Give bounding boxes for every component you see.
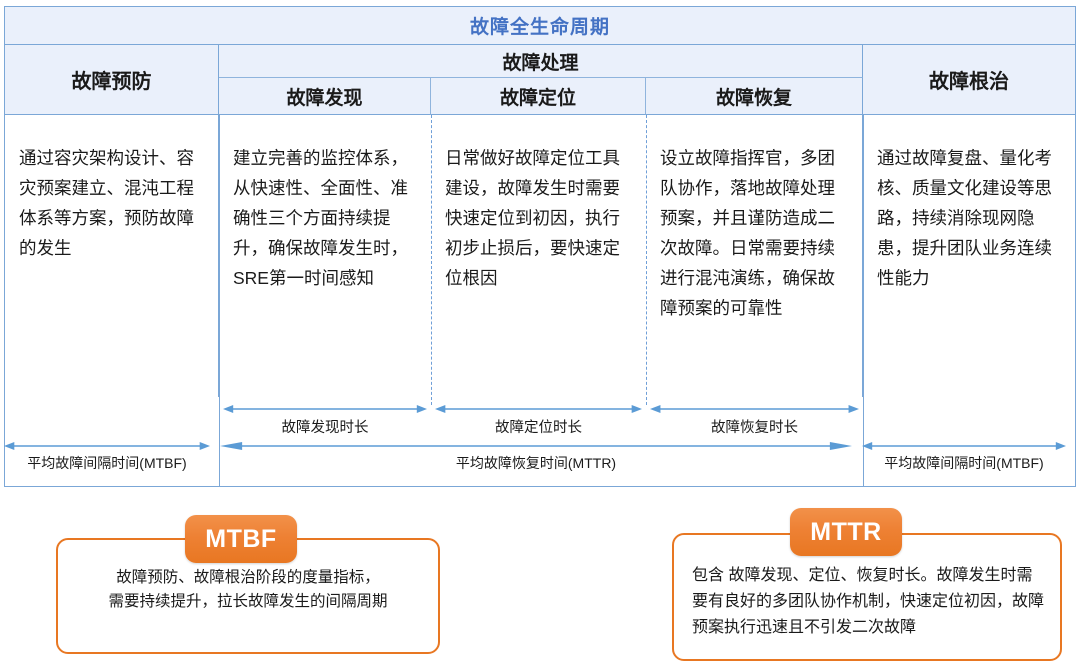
metric-arrow-mtbf-right: 平均故障间隔时间(MTBF) (862, 440, 1066, 480)
double-arrow-icon (650, 403, 859, 415)
duration-label-recover: 故障恢复时长 (650, 416, 859, 437)
metric-label-mttr: 平均故障恢复时间(MTTR) (220, 453, 852, 473)
column-header-prevention: 故障预防 (5, 45, 219, 115)
column-divider-right (863, 115, 864, 486)
column-divider-left (219, 115, 220, 486)
column-body-recover: 设立故障指挥官，多团队协作，落地故障处理预案，并且谨防造成二次故障。日常需要持续… (646, 115, 863, 397)
duration-arrow-locate: 故障定位时长 (435, 403, 642, 445)
metric-arrow-mttr: 平均故障恢复时间(MTTR) (220, 440, 852, 480)
dashed-divider-locate-recover (646, 115, 647, 405)
double-arrow-icon (223, 403, 427, 415)
column-header-discover: 故障发现 (219, 78, 431, 115)
double-arrow-icon (220, 440, 852, 452)
column-header-recover: 故障恢复 (646, 78, 863, 115)
column-body-locate: 日常做好故障定位工具建设，故障发生时需要快速定位到初因，执行初步止损后，要快速定… (431, 115, 646, 397)
column-body-prevention: 通过容灾架构设计、容灾预案建立、混沌工程体系等方案，预防故障的发生 (5, 115, 219, 397)
double-arrow-icon (4, 440, 210, 452)
metric-label-mtbf-left: 平均故障间隔时间(MTBF) (4, 453, 210, 473)
column-body-discover: 建立完善的监控体系，从快速性、全面性、准确性三个方面持续提升，确保故障发生时，S… (219, 115, 431, 397)
fault-lifecycle-table: 故障全生命周期 故障预防 故障处理 故障发现 故障定位 故障恢复 故障根治 通过… (4, 6, 1076, 487)
metric-arrow-mtbf-left: 平均故障间隔时间(MTBF) (4, 440, 210, 480)
column-header-cure: 故障根治 (863, 45, 1075, 115)
double-arrow-icon (435, 403, 642, 415)
duration-label-discover: 故障发现时长 (223, 416, 427, 437)
badge-mttr: MTTR (790, 508, 902, 556)
column-header-locate: 故障定位 (431, 78, 646, 115)
badge-mtbf: MTBF (185, 515, 297, 563)
group-header-handling: 故障处理 (219, 45, 863, 78)
dashed-divider-discover-locate (431, 115, 432, 405)
duration-arrow-recover: 故障恢复时长 (650, 403, 859, 445)
double-arrow-icon (862, 440, 1066, 452)
duration-arrow-discover: 故障发现时长 (223, 403, 427, 445)
column-body-cure: 通过故障复盘、量化考核、质量文化建设等思路，持续消除现网隐患，提升团队业务连续性… (863, 115, 1075, 397)
duration-label-locate: 故障定位时长 (435, 416, 642, 437)
diagram-title: 故障全生命周期 (5, 7, 1075, 45)
metric-label-mtbf-right: 平均故障间隔时间(MTBF) (862, 453, 1066, 473)
